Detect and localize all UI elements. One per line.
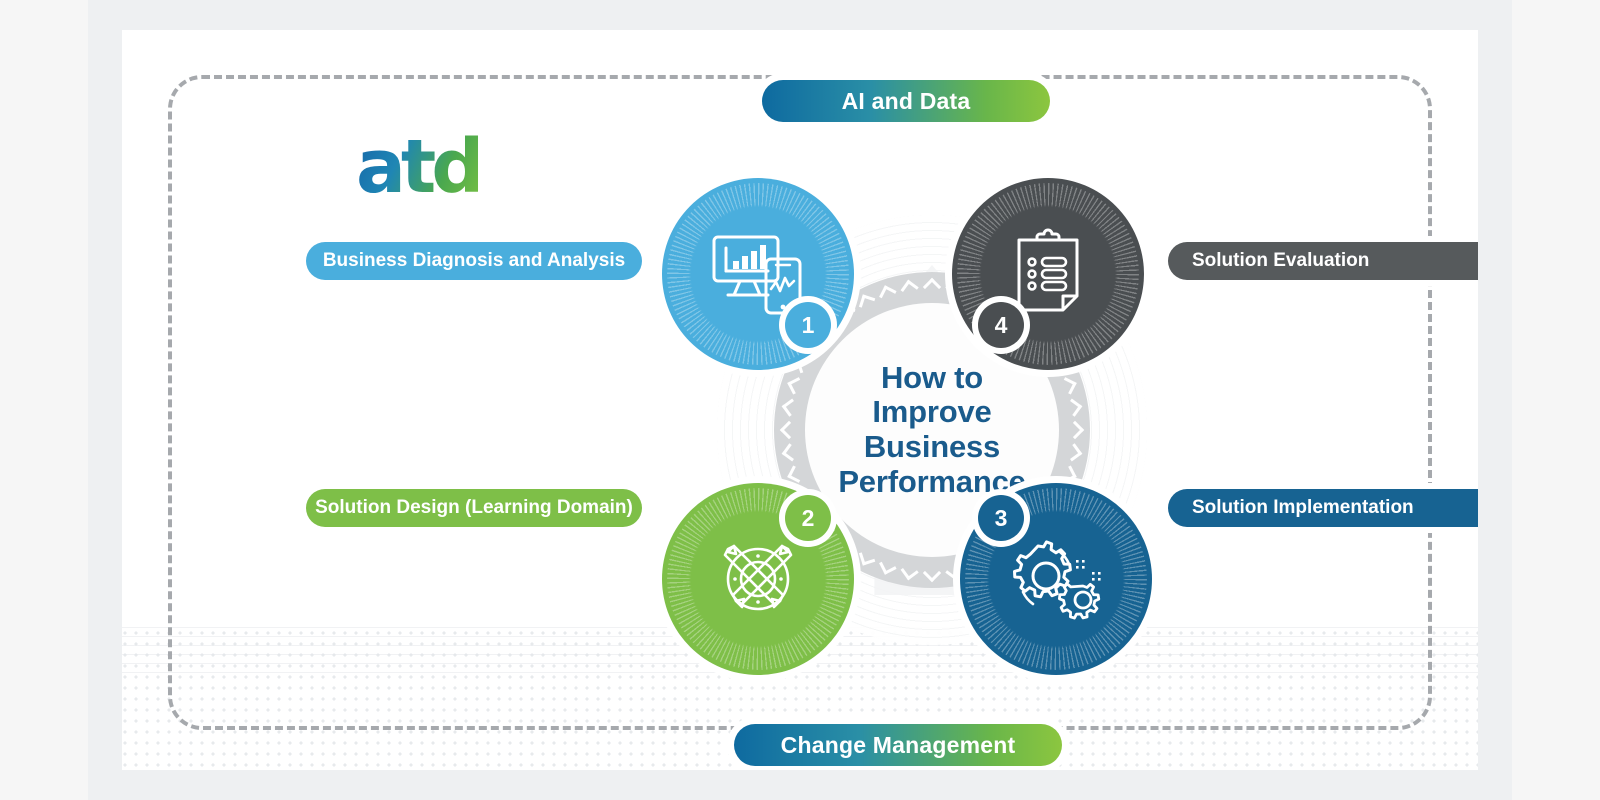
step-badge-1-number: 1 xyxy=(802,312,815,339)
monitor-chart-mobile-icon xyxy=(710,231,806,317)
atd-logo: atd xyxy=(356,130,479,204)
center-title-line: How to xyxy=(838,361,1025,396)
crossed-pencils-target-icon xyxy=(711,532,805,626)
clipboard-checklist-icon xyxy=(1009,228,1087,320)
step-badge-2[interactable]: 2 xyxy=(785,495,831,541)
step-circle-1[interactable] xyxy=(662,178,854,370)
step-badge-3[interactable]: 3 xyxy=(978,495,1024,541)
page-gutter-left xyxy=(0,0,88,800)
step-badge-4[interactable]: 4 xyxy=(978,302,1024,348)
label-business-diagnosis-and-analysis[interactable]: Business Diagnosis and Analysis xyxy=(306,242,642,280)
center-title-line: Improve xyxy=(838,395,1025,430)
label-step-1-text: Business Diagnosis and Analysis xyxy=(323,250,625,272)
page-background: atd AI and Data Change Management Busine… xyxy=(0,0,1600,800)
step-badge-2-number: 2 xyxy=(802,505,815,532)
banner-change-management-label: Change Management xyxy=(781,732,1016,759)
step-circle-4[interactable] xyxy=(952,178,1144,370)
banner-ai-and-data[interactable]: AI and Data xyxy=(762,80,1050,122)
label-step-2-text: Solution Design (Learning Domain) xyxy=(315,497,633,519)
step-badge-4-number: 4 xyxy=(995,312,1008,339)
cycle-diagram: How toImproveBusinessPerformance xyxy=(622,150,1242,710)
infographic-card: atd AI and Data Change Management Busine… xyxy=(122,30,1478,770)
gears-icon xyxy=(1004,532,1108,626)
center-title: How toImproveBusinessPerformance xyxy=(838,361,1025,500)
step-badge-3-number: 3 xyxy=(995,505,1008,532)
step-badge-1[interactable]: 1 xyxy=(785,302,831,348)
banner-ai-and-data-label: AI and Data xyxy=(842,88,971,115)
banner-change-management[interactable]: Change Management xyxy=(734,724,1062,766)
page-gutter-right xyxy=(1512,0,1600,800)
center-title-line: Business xyxy=(838,430,1025,465)
label-solution-design[interactable]: Solution Design (Learning Domain) xyxy=(306,489,642,527)
